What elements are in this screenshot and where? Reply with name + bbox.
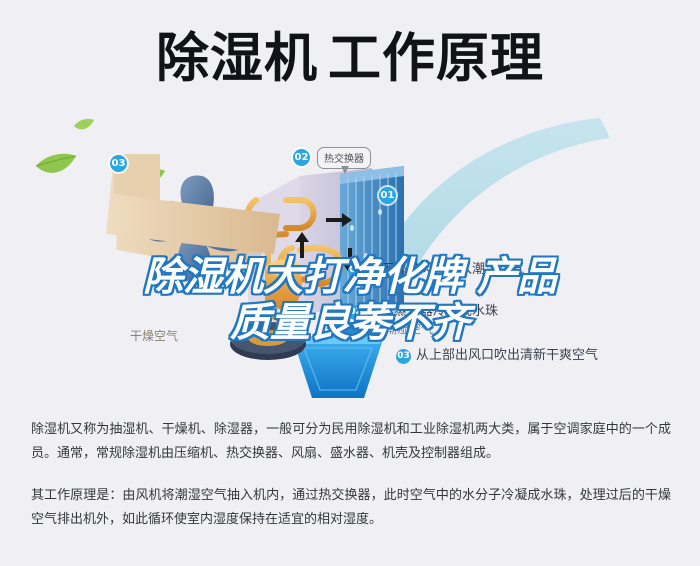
page-root: 除湿机工作原理: [0, 0, 700, 566]
body-paragraph-2: 其工作原理是：由风机将潮湿空气抽入机内，通过热交换器，此时空气中的水分子冷凝成水…: [31, 484, 671, 532]
page-title: 除湿机工作原理: [0, 28, 700, 90]
machine-base: [230, 322, 306, 360]
dry-air-arrow-svg: [8, 148, 288, 268]
step-line-02: 02经过蒸发器冷凝成水珠: [348, 300, 498, 320]
title-part-1: 除湿机: [156, 28, 318, 89]
badge-02-heat-exchanger: 02: [293, 149, 310, 166]
step-line-01: 01从下部进风口吸入潮湿空气: [348, 258, 524, 278]
dry-air-label: 干燥空气: [130, 327, 178, 344]
step-text-01: 从下部进风口吸入潮湿空气: [368, 262, 524, 277]
callout-tail-icon: [341, 166, 349, 174]
badge-03-dry-air: 03: [110, 155, 127, 172]
step-badge-02: 02: [348, 305, 363, 320]
title-part-2: 工作原理: [328, 28, 544, 89]
humid-air-label: 潮湿空气: [385, 320, 433, 337]
step-text-02: 经过蒸发器冷凝成水珠: [368, 304, 498, 319]
body-paragraph-1: 除湿机又称为抽湿机、干燥机、除湿器，一般可分为民用除湿机和工业除湿机两大类，属于…: [31, 418, 671, 466]
badge-01-humid-air: 01: [379, 187, 396, 204]
step-badge-01: 01: [348, 263, 363, 278]
step-line-03: 03从上部出风口吹出清新干爽空气: [396, 344, 598, 364]
title-text: 除湿机工作原理: [156, 28, 544, 90]
heat-exchanger-block: [340, 166, 404, 312]
article-body: 除湿机又称为抽湿机、干燥机、除湿器，一般可分为民用除湿机和工业除湿机两大类，属于…: [31, 418, 671, 532]
step-badge-03: 03: [396, 349, 411, 364]
step-text-03: 从上部出风口吹出清新干爽空气: [416, 348, 598, 363]
